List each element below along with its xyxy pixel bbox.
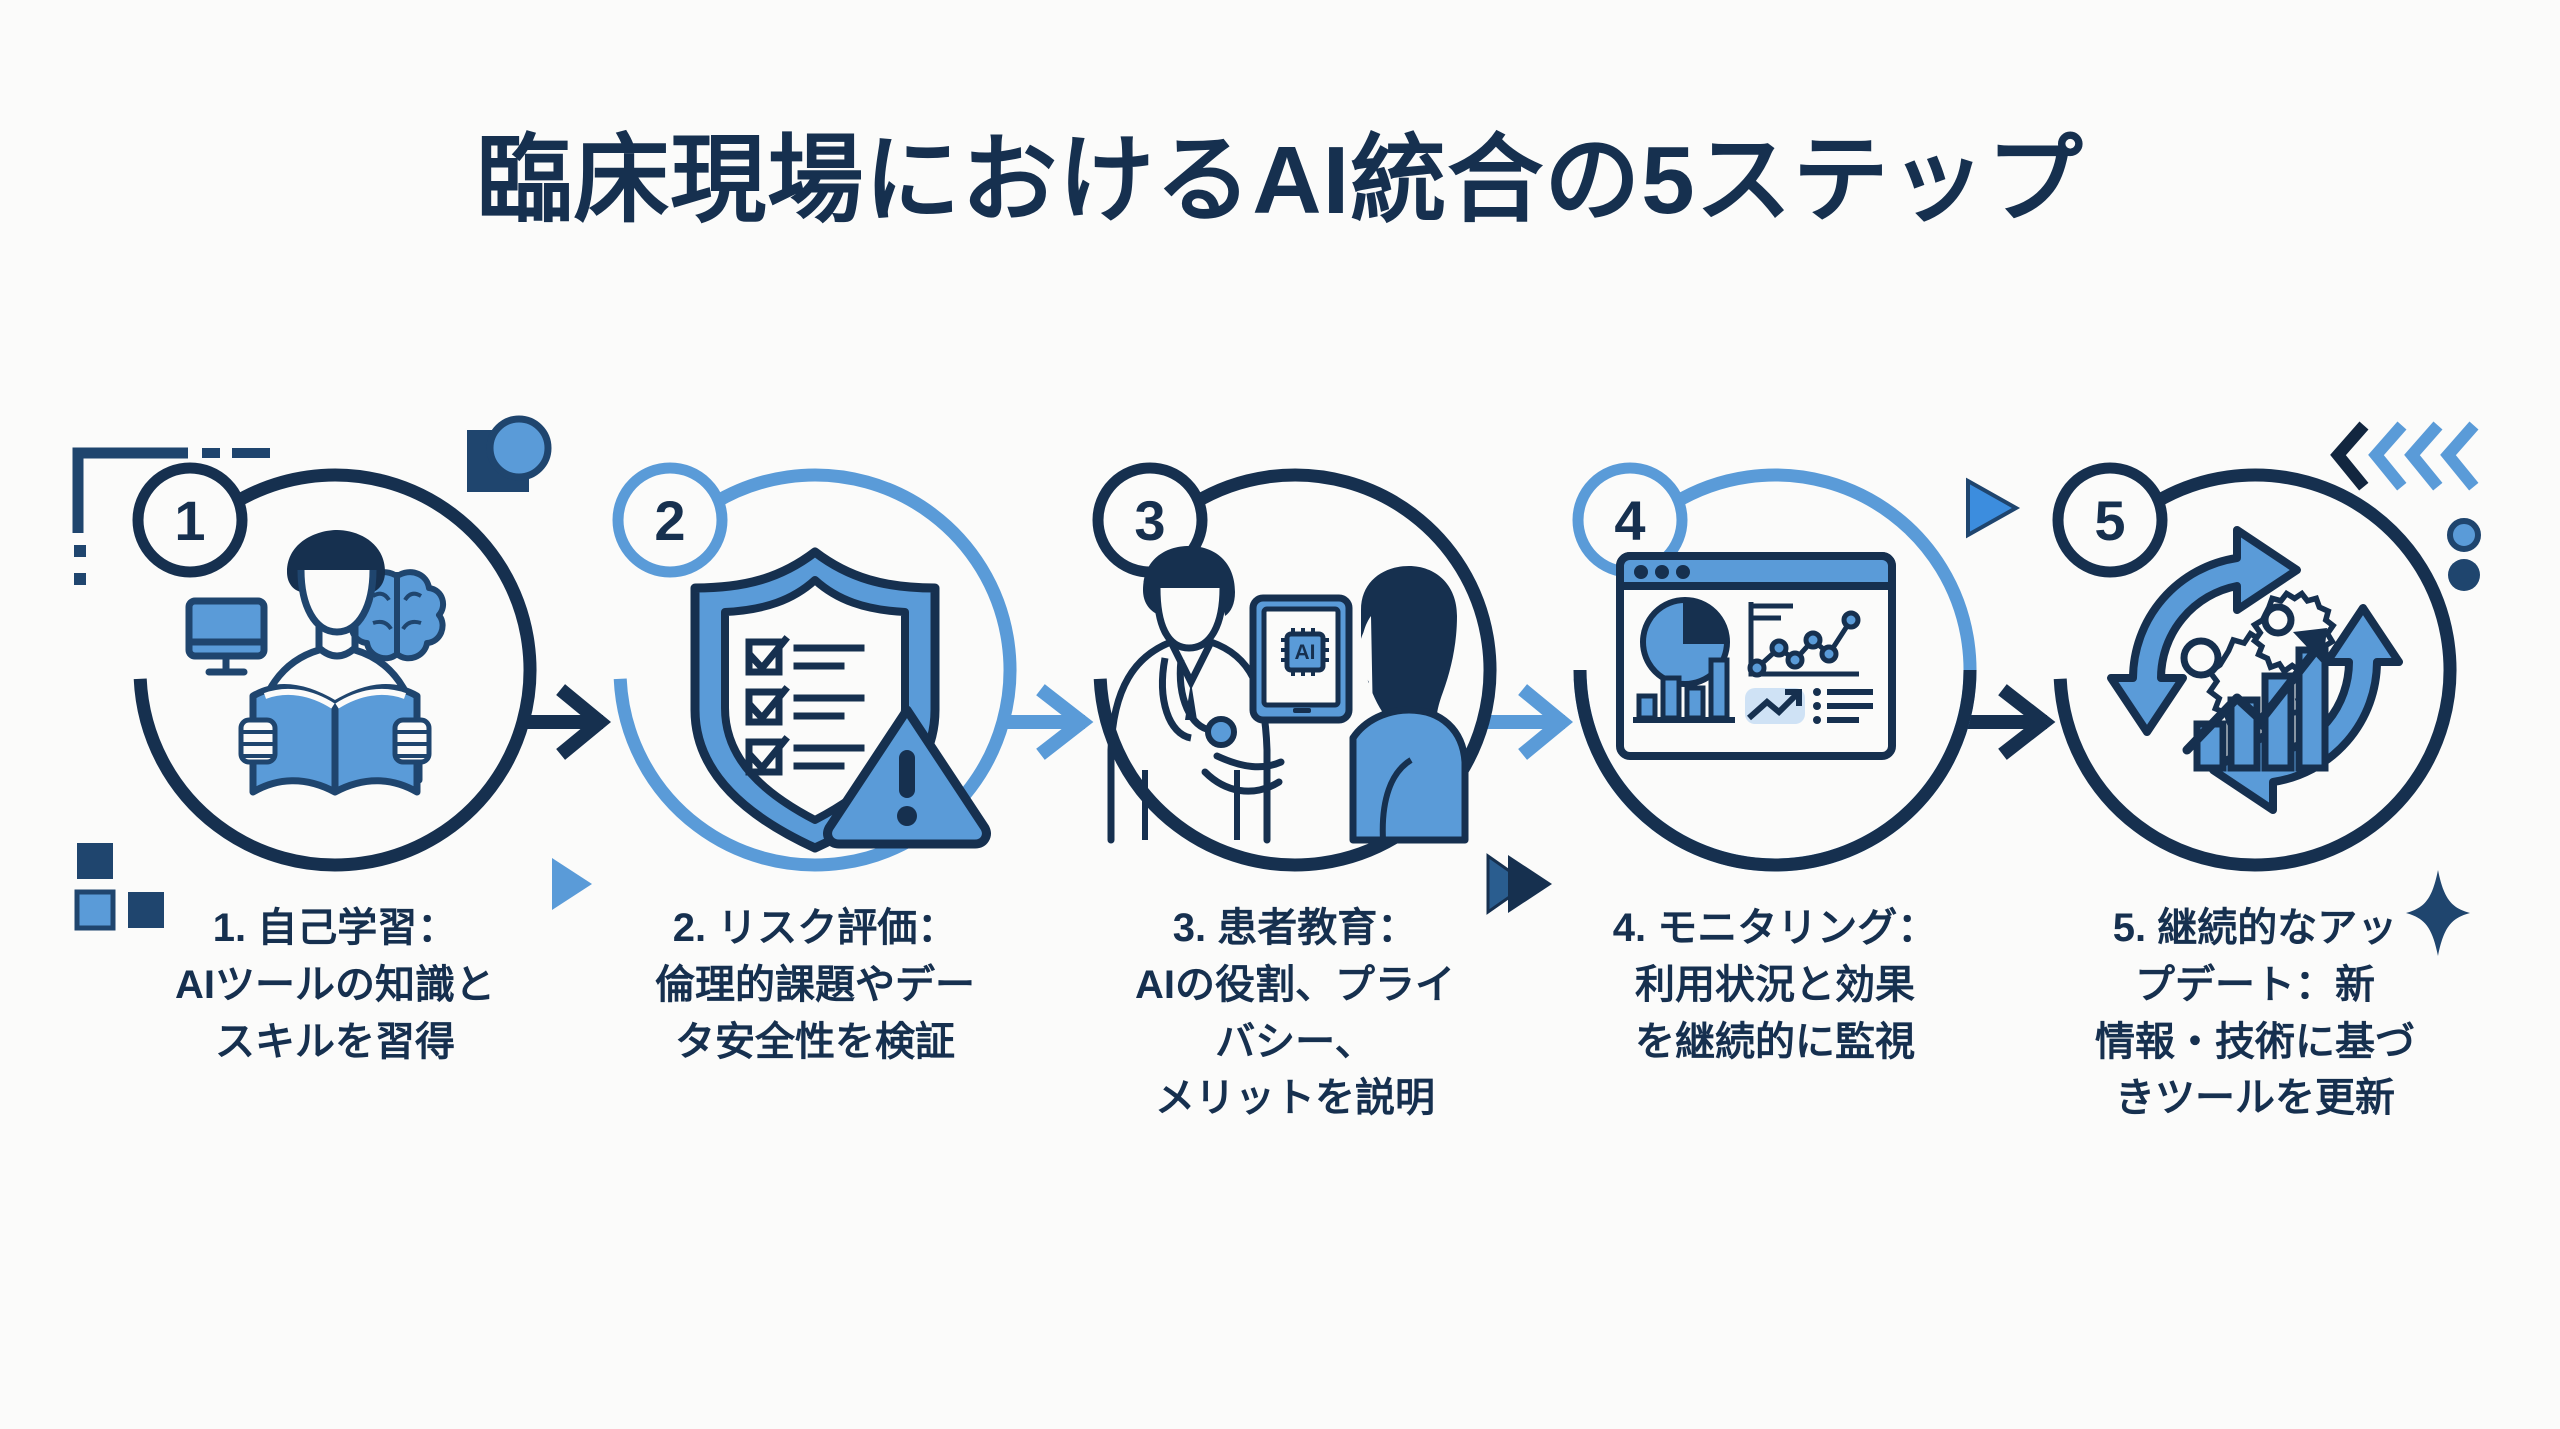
tablet-ai-label: AI	[1295, 641, 1316, 664]
step-badge-circle	[138, 468, 242, 572]
step-5-caption: 5. 継続的なアッ プデート：新 情報・技術に基づ きツールを更新	[2025, 900, 2485, 1127]
step-badge-circle	[618, 468, 722, 572]
patient-icon	[1353, 566, 1465, 840]
infographic-canvas: 臨床現場におけるAI統合の5ステップ	[0, 0, 2560, 1429]
steps-row: 1 1. 自己学習： AIツールの知識と スキルを習得	[0, 420, 2560, 980]
step-2-circle: 2	[585, 420, 1045, 880]
analytics-dashboard-icon	[1620, 556, 1892, 756]
step-3-caption: 3. 患者教育： AIの役割、プライ バシー、 メリットを説明	[1065, 900, 1525, 1127]
step-5-circle: 5	[2025, 420, 2485, 880]
step-4-circle: 4	[1545, 420, 2005, 880]
step-4-caption: 4. モニタリング： 利用状況と効果 を継続的に監視	[1545, 900, 2005, 1070]
step-1-caption: 1. 自己学習： AIツールの知識と スキルを習得	[105, 900, 565, 1070]
step-item-2[interactable]: 2 2. リスク評価： 倫理的課題やデー タ安全性を検証	[585, 420, 1045, 980]
step-item-1[interactable]: 1 1. 自己学習： AIツールの知識と スキルを習得	[105, 420, 565, 980]
step-1-circle: 1	[105, 420, 565, 880]
step-item-5[interactable]: 5 5. 継続的なアッ プデート：新 情報・技術に基づ きツールを更新	[2025, 420, 2485, 980]
step-item-4[interactable]: 4 4. モニタリング： 利用状況と効果 を継続的に監視	[1545, 420, 2005, 980]
step-2-caption: 2. リスク評価： 倫理的課題やデー タ安全性を検証	[585, 900, 1045, 1070]
step-item-3[interactable]: AI 3 3. 患者教育： AIの役割、プライ バシー、	[1065, 420, 1525, 980]
step-badge-circle	[2058, 468, 2162, 572]
person-reading-icon	[241, 530, 429, 792]
monitor-icon	[189, 601, 264, 672]
ai-tablet-icon: AI	[1253, 598, 1349, 720]
step-3-circle: AI 3	[1065, 420, 1525, 880]
